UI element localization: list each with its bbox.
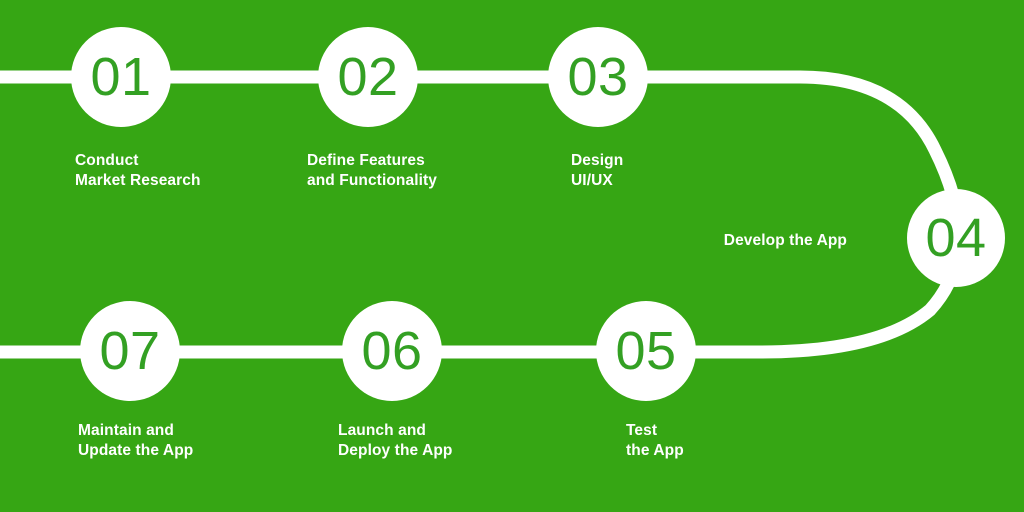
step-number-02: 02	[337, 50, 398, 104]
step-number-01: 01	[90, 50, 151, 104]
step-number-04: 04	[925, 211, 986, 265]
step-label-07: Maintain and Update the App	[78, 421, 193, 461]
step-label-05: Test the App	[626, 421, 684, 461]
step-label-01: Conduct Market Research	[75, 151, 201, 191]
infographic-canvas: 01 Conduct Market Research 02 Define Fea…	[0, 0, 1024, 512]
step-number-06: 06	[361, 324, 422, 378]
step-node-01[interactable]: 01	[71, 27, 171, 127]
step-node-07[interactable]: 07	[80, 301, 180, 401]
step-label-03: Design UI/UX	[571, 151, 623, 191]
step-label-06: Launch and Deploy the App	[338, 421, 453, 461]
step-node-03[interactable]: 03	[548, 27, 648, 127]
step-label-02: Define Features and Functionality	[307, 151, 437, 191]
step-node-02[interactable]: 02	[318, 27, 418, 127]
step-node-06[interactable]: 06	[342, 301, 442, 401]
step-number-05: 05	[615, 324, 676, 378]
step-node-05[interactable]: 05	[596, 301, 696, 401]
step-label-04: Develop the App	[0, 231, 847, 251]
step-number-03: 03	[567, 50, 628, 104]
step-number-07: 07	[99, 324, 160, 378]
step-node-04[interactable]: 04	[907, 189, 1005, 287]
